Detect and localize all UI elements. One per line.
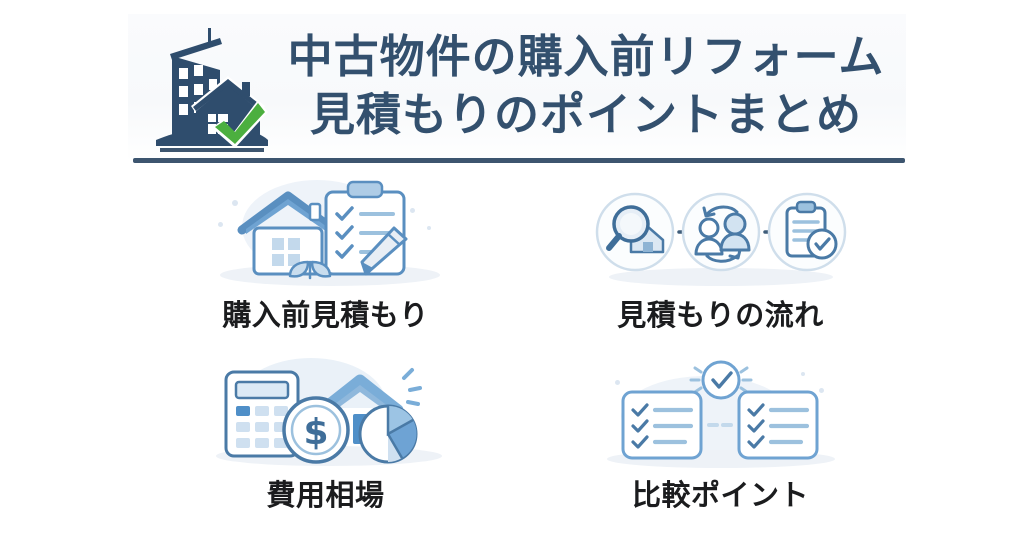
- poster-canvas: 中古物件の購入前リフォーム 見積もりのポイントまとめ: [0, 0, 1024, 538]
- dollar-coin-icon: $: [284, 398, 348, 462]
- feature-grid: 購入前見積もり: [128, 172, 918, 532]
- checklist-card-icon-right: [739, 392, 817, 458]
- card-comparison-points[interactable]: 比較ポイント: [523, 352, 918, 532]
- pie-chart-icon: [360, 406, 416, 462]
- title-line-2: 見積もりのポイントまとめ: [310, 86, 862, 144]
- header-divider: [133, 158, 905, 163]
- card-label-comparison-points: 比較ポイント: [632, 478, 809, 512]
- leaf-icon: [290, 262, 330, 278]
- svg-text:$: $: [303, 412, 328, 453]
- card-label-estimate-flow: 見積もりの流れ: [617, 298, 824, 332]
- card-label-pre-purchase-estimate: 購入前見積もり: [222, 298, 429, 332]
- card-pre-purchase-estimate[interactable]: 購入前見積もり: [128, 172, 523, 352]
- checklist-card-icon-left: [623, 392, 701, 458]
- art-cost-range: $: [196, 358, 456, 476]
- logo-building-house-check-icon: [150, 24, 270, 154]
- art-pre-purchase-estimate: [196, 178, 456, 296]
- card-cost-range[interactable]: $ 費用相場: [128, 352, 523, 532]
- art-estimate-flow: [591, 178, 851, 296]
- card-estimate-flow[interactable]: 見積もりの流れ: [523, 172, 918, 352]
- poster-title: 中古物件の購入前リフォーム 見積もりのポイントまとめ: [266, 24, 906, 148]
- card-label-cost-range: 費用相場: [266, 478, 384, 512]
- people-exchange-icon: [683, 194, 759, 270]
- clipboard-check-icon: [769, 194, 845, 270]
- magnifier-house-icon: [597, 194, 673, 270]
- title-line-1: 中古物件の購入前リフォーム: [288, 28, 885, 86]
- art-comparison-points: [591, 358, 851, 476]
